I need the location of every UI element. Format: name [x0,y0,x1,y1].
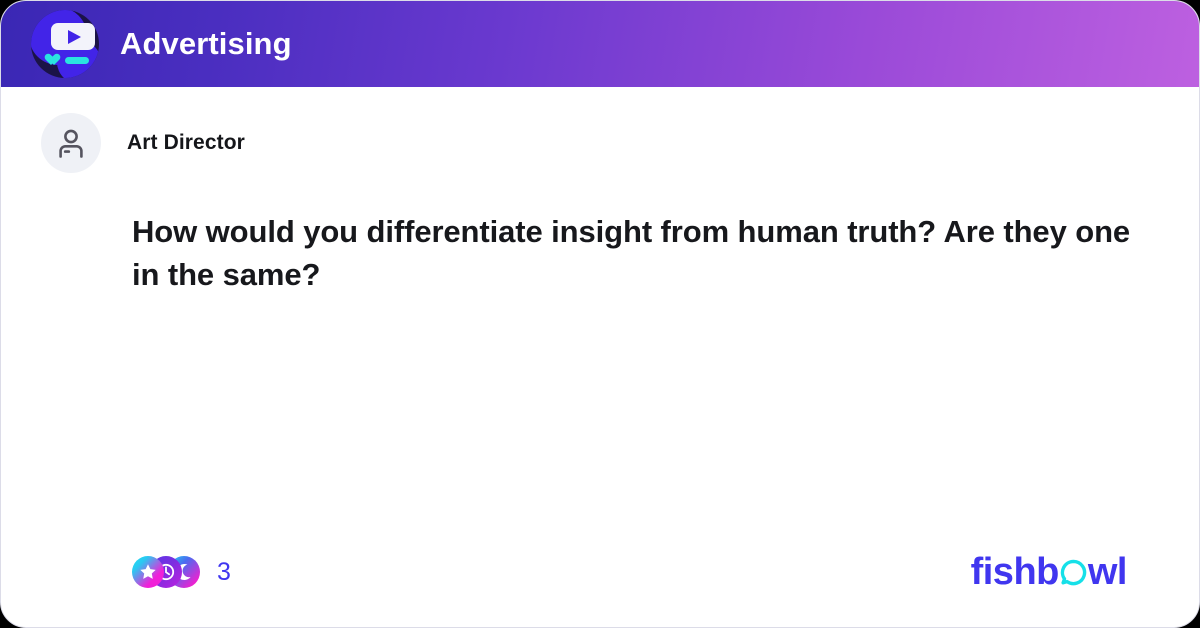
person-icon [54,126,88,160]
reactions-group[interactable]: 3 [132,556,231,588]
post-card: Advertising Art Director How would you d… [0,0,1200,628]
channel-header: Advertising [1,1,1199,87]
post-footer: 3 fishb wl [1,549,1199,595]
reaction-count: 3 [217,558,231,587]
avatar [41,113,101,173]
speech-bubble-o-icon [1060,559,1087,586]
play-triangle-icon [68,30,81,44]
logo-bar-shape [65,57,89,64]
brand-text-part1: fishb [971,551,1059,594]
brand-text-part2: wl [1088,551,1127,594]
fishbowl-logo: fishb wl [971,551,1127,594]
author-row: Art Director [1,87,1199,173]
reaction-badge-stack[interactable] [132,556,204,588]
star-reaction-icon[interactable] [132,556,164,588]
heart-icon [48,54,61,66]
advertising-channel-logo-icon [31,10,99,78]
author-name: Art Director [127,131,245,155]
post-body: Art Director How would you differentiate… [1,87,1199,627]
post-text: How would you differentiate insight from… [132,211,1139,297]
channel-title: Advertising [120,26,292,62]
